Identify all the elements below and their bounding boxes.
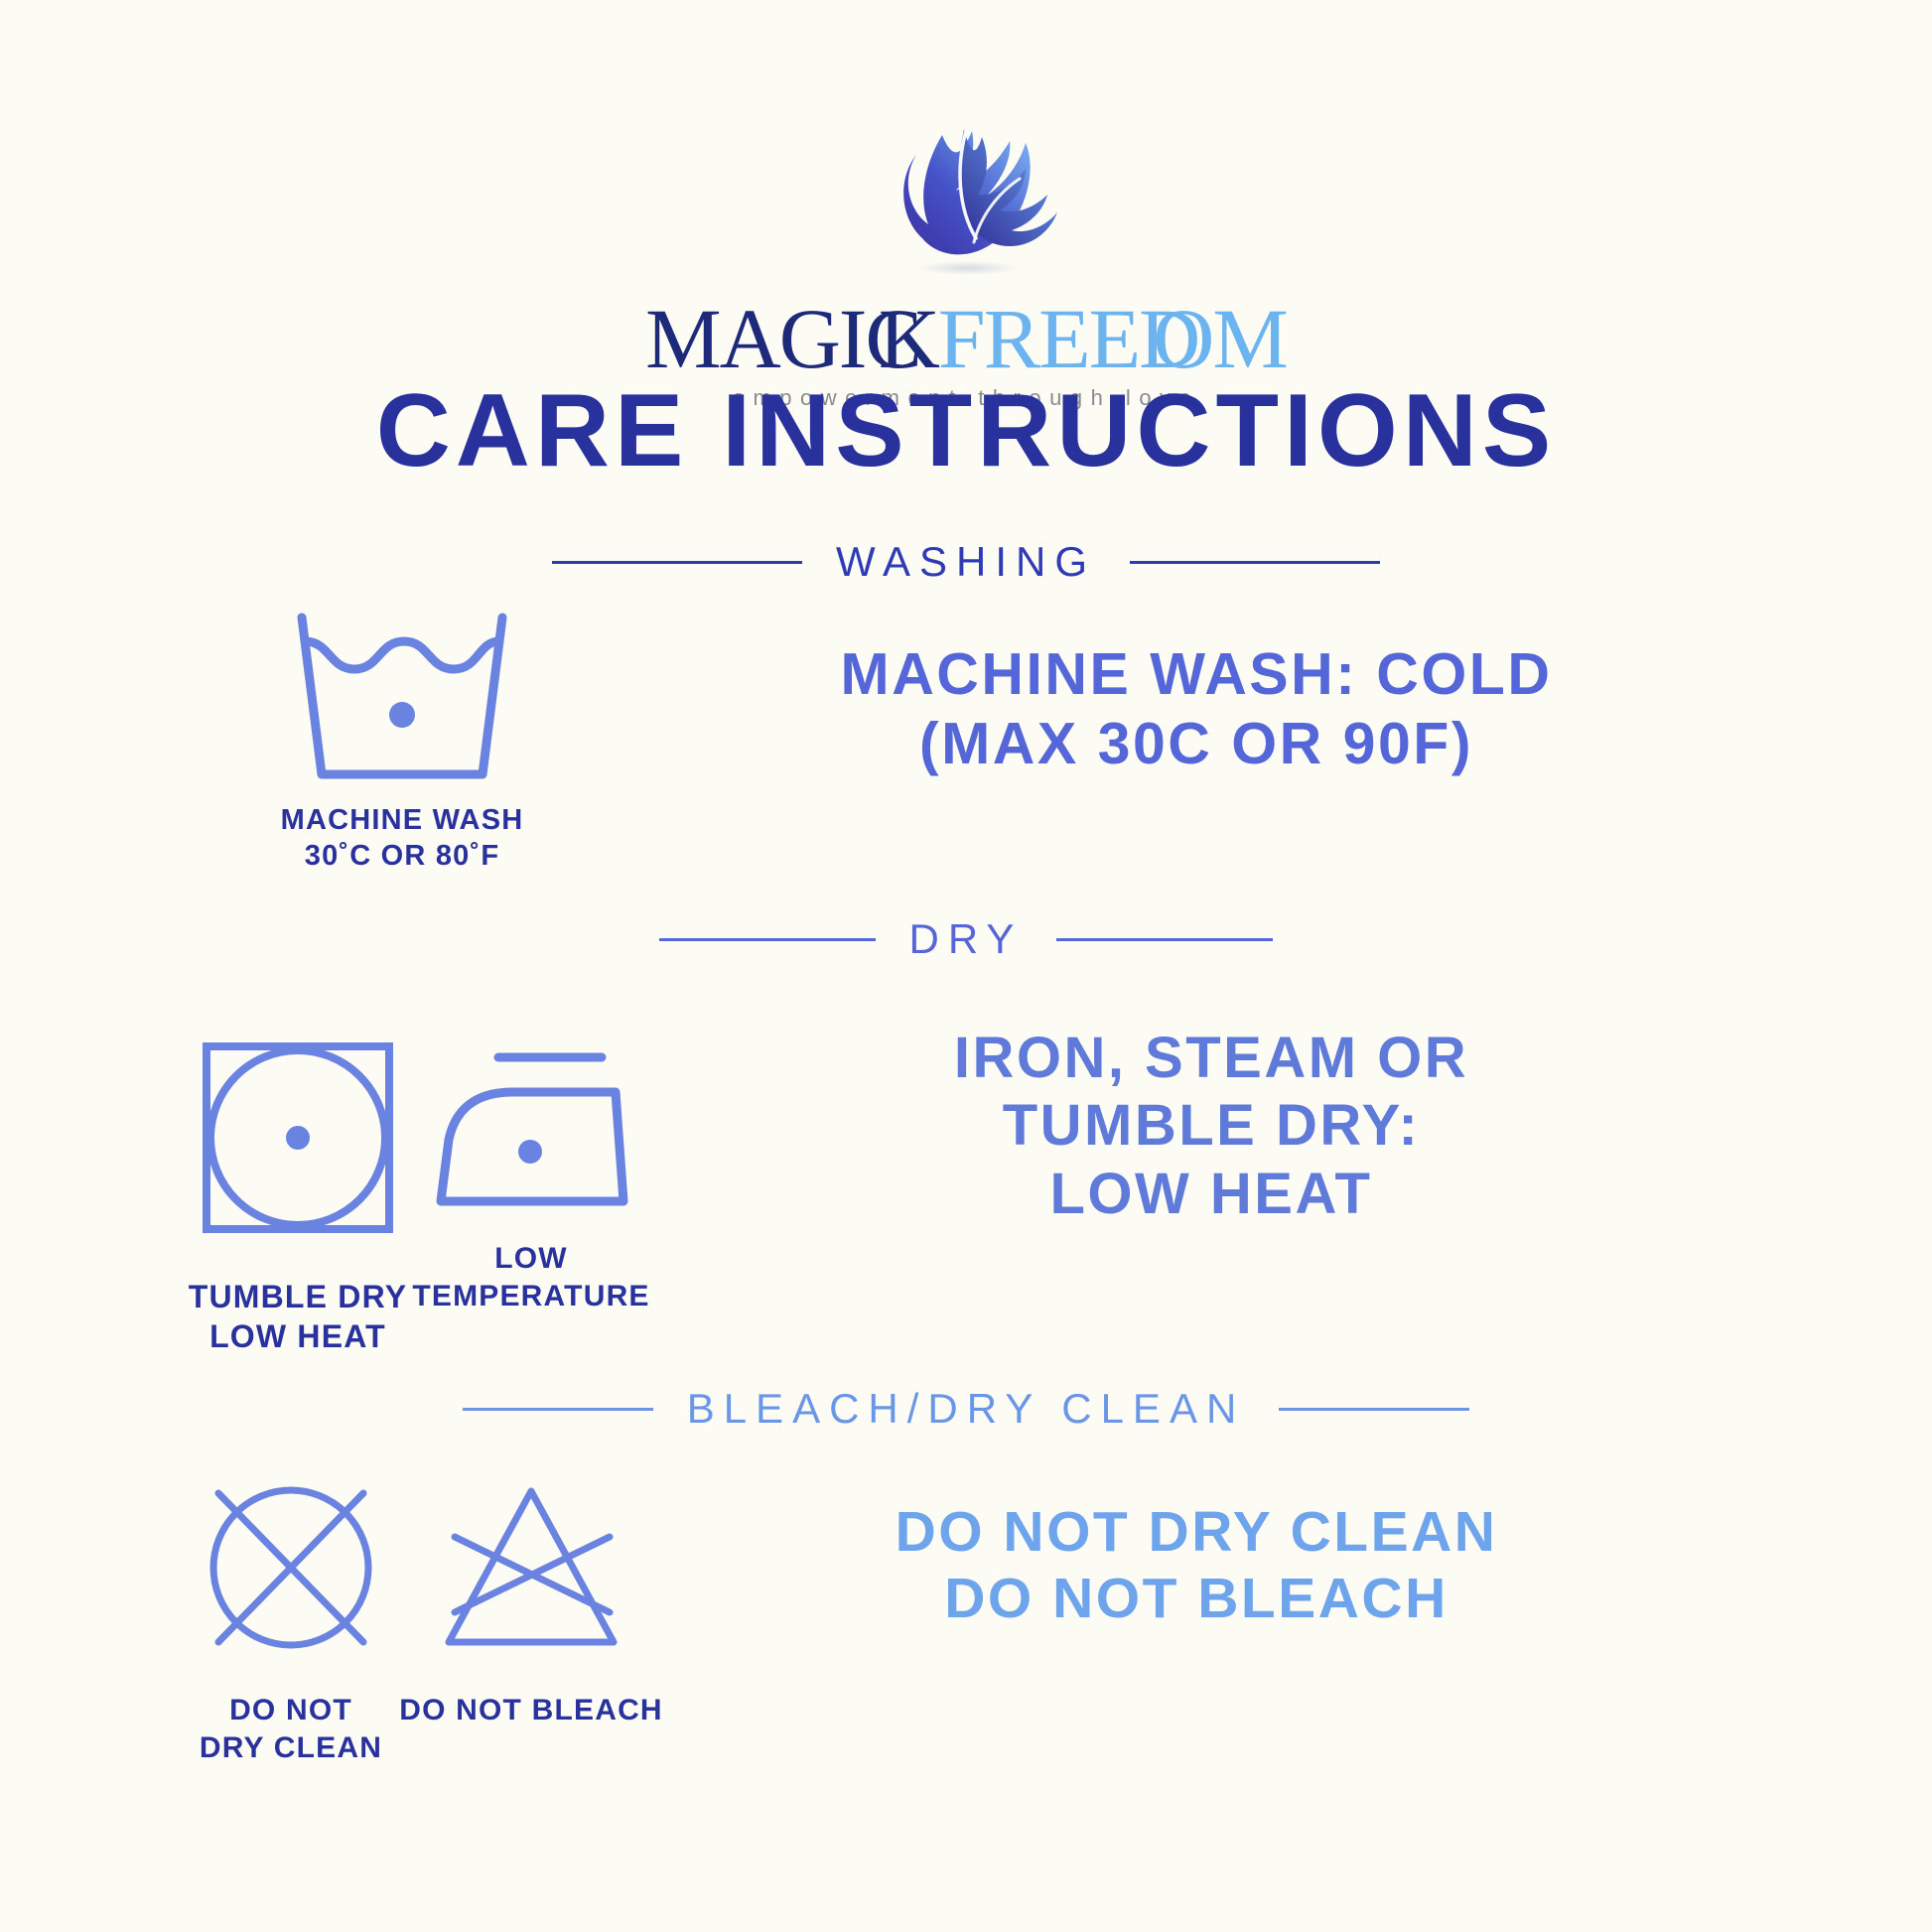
section-label-bleach-dry-clean: BLEACH/DRY CLEAN [653,1388,1280,1430]
icon-tile-machine-wash: MACHINE WASH30˚C OR 80˚F [253,608,551,875]
divider-rule-left [659,938,876,941]
brand-wordmark: MAGICKFREEDOM [0,296,1932,381]
icon-tile-iron-low-temp: LOWTEMPERATURE [387,1040,675,1314]
icon-label-iron-low-temp: LOWTEMPERATURE [387,1240,675,1314]
do-not-bleach-icon [439,1481,623,1656]
instruction-washing: MACHINE WASH: COLD(MAX 30C OR 90F) [735,640,1658,778]
brand-logo-block: MAGICKFREEDOM empowerment through love [0,117,1932,411]
iron-low-temperature-icon [427,1040,635,1214]
instruction-bleach-dry-clean: DO NOT DRY CLEANDO NOT BLEACH [735,1499,1658,1633]
wordmark-m: M [1212,291,1286,386]
care-instructions-page: MAGICKFREEDOM empowerment through love C… [0,0,1932,1932]
divider-rule-right [1130,561,1380,564]
wordmark-k: K [879,291,938,386]
instruction-dry: IRON, STEAM ORTUMBLE DRY:LOW HEAT [774,1025,1648,1228]
divider-bleach-dry-clean: BLEACH/DRY CLEAN [0,1388,1932,1430]
page-title: CARE INSTRUCTIONS [0,379,1932,483]
feather-logo-icon [837,117,1095,286]
icon-label-machine-wash: MACHINE WASH30˚C OR 80˚F [253,802,551,875]
icon-tile-do-not-bleach: DO NOT BLEACH [387,1481,675,1729]
section-label-dry: DRY [876,918,1057,960]
section-label-washing: WASHING [802,541,1130,583]
wordmark-o: O [1153,291,1212,386]
divider-rule-left [552,561,802,564]
divider-rule-right [1056,938,1273,941]
do-not-dry-clean-icon [203,1479,379,1656]
divider-dry: DRY [0,918,1932,960]
machine-wash-basin-icon [288,608,516,784]
icon-label-do-not-bleach: DO NOT BLEACH [387,1692,675,1729]
tumble-dry-low-heat-icon [201,1040,395,1235]
divider-rule-left [463,1408,653,1411]
divider-rule-right [1279,1408,1469,1411]
divider-washing: WASHING [0,541,1932,583]
